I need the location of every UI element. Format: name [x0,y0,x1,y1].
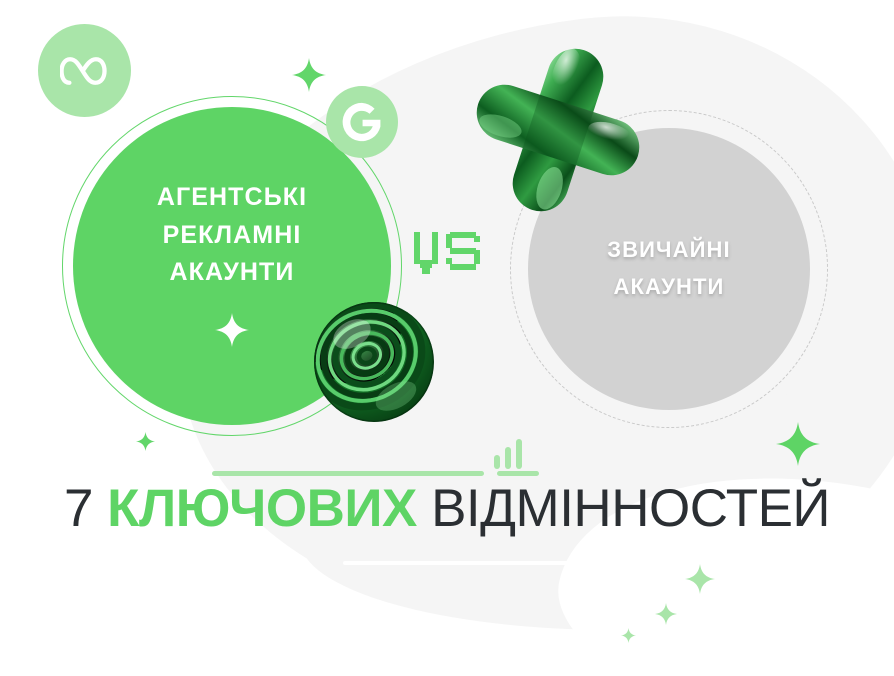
headline-highlight: КЛЮЧОВИХ [107,479,417,538]
divider-rule-left [212,471,484,476]
sparkle-bottom-1 [685,564,715,594]
regular-accounts-line-2: АКАУНТИ [614,272,725,303]
agency-accounts-line-2: РЕКЛАМНІ [163,218,302,254]
headline-count: 7 [64,479,107,538]
sparkle-right-large [776,422,820,466]
divider-rule-right [497,471,539,476]
regular-accounts-line-1: ЗВИЧАЙНІ [607,235,730,266]
agency-accounts-line-3: АКАУНТИ [170,255,295,291]
meta-badge[interactable] [38,24,131,117]
agency-accounts-line-1: АГЕНТСЬКІ [157,180,307,216]
google-g-icon [339,99,385,145]
sparkle-top-green [292,58,326,92]
headline-rest: ВІДМІННОСТЕЙ [417,479,830,538]
sparkle-bottom-3 [621,628,636,643]
poster-canvas: АГЕНТСЬКІ РЕКЛАМНІ АКАУНТИ ЗВИЧАЙНІ АКАУ… [0,0,894,676]
sparkle-icon [215,313,249,352]
metallic-sphere-3d [312,300,436,424]
page-title: 7 КЛЮЧОВИХ ВІДМІННОСТЕЙ [0,478,894,539]
sparkle-bottom-2 [655,603,677,625]
sparkle-left-small [136,432,155,451]
google-badge[interactable] [326,86,398,158]
bar-chart-icon [494,437,536,469]
versus-label [412,228,498,280]
meta-infinity-icon [60,54,110,88]
headline-underline [343,561,699,565]
metallic-cross-3d [468,40,648,220]
